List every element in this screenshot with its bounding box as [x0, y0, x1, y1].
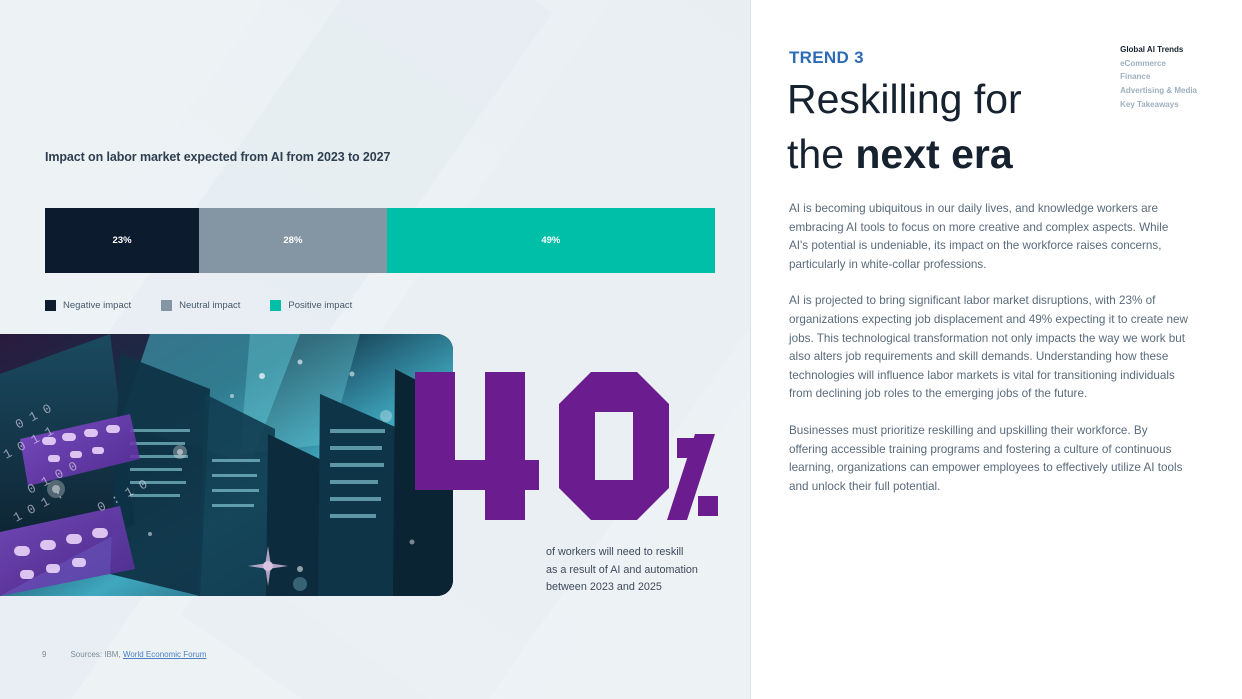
headline-line-1: Reskilling for	[787, 76, 1022, 122]
paragraph-2: AI is projected to bring significant lab…	[789, 292, 1189, 404]
section-nav: Global AI Trends eCommerce Finance Adver…	[1120, 43, 1197, 112]
source-link-world-economic-forum[interactable]: World Economic Forum	[123, 650, 206, 659]
stat-caption-line-3: between 2023 and 2025	[546, 579, 751, 597]
headline-line-2-light: the	[787, 131, 855, 177]
stacked-bar-chart: 23% 28% 49%	[45, 208, 715, 273]
nav-item-ecommerce[interactable]: eCommerce	[1120, 57, 1197, 71]
left-panel: Impact on labor market expected from AI …	[0, 0, 751, 699]
right-panel: Global AI Trends eCommerce Finance Adver…	[751, 0, 1242, 699]
nav-item-finance[interactable]: Finance	[1120, 70, 1197, 84]
body-copy: AI is becoming ubiquitous in our daily l…	[789, 200, 1189, 514]
chart-title: Impact on labor market expected from AI …	[45, 150, 390, 164]
stat-caption: of workers will need to reskill as a res…	[546, 544, 751, 597]
legend-label-neutral: Neutral impact	[179, 300, 240, 311]
bar-value-negative: 23%	[113, 235, 132, 246]
legend-swatch-positive-icon	[270, 300, 281, 311]
trend-label: TREND 3	[789, 48, 864, 68]
legend-swatch-negative-icon	[45, 300, 56, 311]
stat-caption-line-2: as a result of AI and automation	[546, 562, 751, 580]
page-number: 9	[42, 650, 46, 659]
sources-text: Sources: IBM, World Economic Forum	[70, 650, 206, 659]
legend-item-negative: Negative impact	[45, 300, 131, 311]
city-skyline-photo: 0 1 0 1 0 1 1 0 1 0 0 1 0 1 : 0 : 1 0	[0, 334, 453, 596]
nav-item-global-ai-trends[interactable]: Global AI Trends	[1120, 43, 1197, 57]
bar-segment-neutral: 28%	[199, 208, 387, 273]
nav-item-advertising-media[interactable]: Advertising & Media	[1120, 84, 1197, 98]
bar-value-positive: 49%	[541, 235, 560, 246]
stat-number-40-percent	[415, 372, 720, 520]
stat-number-glyphs	[415, 372, 720, 520]
page-title: Reskilling for the next era	[787, 72, 1087, 182]
stat-highlight: of workers will need to reskill as a res…	[415, 372, 745, 597]
bar-value-neutral: 28%	[283, 235, 302, 246]
legend-swatch-neutral-icon	[161, 300, 172, 311]
paragraph-1: AI is becoming ubiquitous in our daily l…	[789, 200, 1189, 274]
footer: 9 Sources: IBM, World Economic Forum	[42, 650, 206, 659]
legend-label-positive: Positive impact	[288, 300, 352, 311]
legend-item-neutral: Neutral impact	[161, 300, 240, 311]
stat-caption-line-1: of workers will need to reskill	[546, 544, 751, 562]
headline-line-2-bold: next era	[855, 131, 1012, 177]
bar-segment-negative: 23%	[45, 208, 199, 273]
city-skyline-illustration: 0 1 0 1 0 1 1 0 1 0 0 1 0 1 : 0 : 1 0	[0, 334, 453, 596]
chart-legend: Negative impact Neutral impact Positive …	[45, 300, 352, 311]
legend-label-negative: Negative impact	[63, 300, 131, 311]
legend-item-positive: Positive impact	[270, 300, 352, 311]
paragraph-3: Businesses must prioritize reskilling an…	[789, 422, 1189, 496]
bar-segment-positive: 49%	[387, 208, 715, 273]
nav-item-key-takeaways[interactable]: Key Takeaways	[1120, 98, 1197, 112]
sources-prefix: Sources: IBM,	[70, 650, 120, 659]
